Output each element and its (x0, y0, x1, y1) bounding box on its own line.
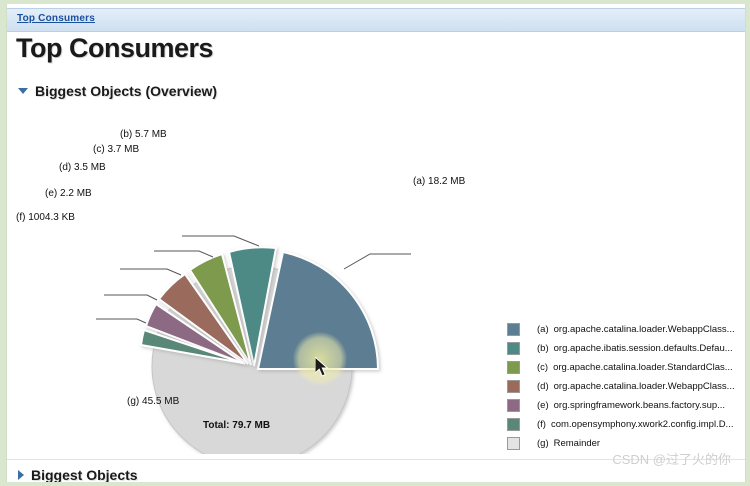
section-header-biggest-objects-overview[interactable]: Biggest Objects (Overview) (18, 83, 217, 99)
pie-label-c-key: (c) (93, 144, 105, 155)
legend-label-g: Remainder (554, 438, 600, 449)
legend-key-e: (e) (537, 400, 549, 411)
pie-label-b-value: 5.7 MB (135, 129, 167, 140)
legend-label-b: org.apache.ibatis.session.defaults.Defau… (554, 343, 733, 354)
pie-label-a-value: 18.2 MB (428, 176, 465, 187)
legend-item-f[interactable]: (f) com.opensymphony.xwork2.config.impl.… (507, 415, 745, 433)
pie-label-g-value: 45.5 MB (142, 396, 179, 407)
legend-swatch-b (507, 342, 520, 355)
legend-item-c[interactable]: (c) org.apache.catalina.loader.StandardC… (507, 358, 745, 376)
pie-label-e-value: 2.2 MB (60, 188, 92, 199)
legend-swatch-e (507, 399, 520, 412)
leader-line-d (120, 269, 181, 275)
legend-key-d: (d) (537, 381, 549, 392)
triangle-down-icon[interactable] (18, 88, 28, 94)
pie-label-e-key: (e) (45, 188, 57, 199)
legend-swatch-a (507, 323, 520, 336)
breadcrumb-link-top-consumers[interactable]: Top Consumers (17, 13, 95, 24)
legend-swatch-d (507, 380, 520, 393)
pie-label-g-key: (g) (127, 396, 139, 407)
leader-line-c (154, 251, 213, 257)
legend-label-d: org.apache.catalina.loader.WebappClass..… (554, 381, 735, 392)
page-title: Top Consumers (16, 33, 213, 64)
pie-label-d-value: 3.5 MB (74, 162, 106, 173)
legend-item-b[interactable]: (b) org.apache.ibatis.session.defaults.D… (507, 339, 745, 357)
legend-key-f: (f) (537, 419, 546, 430)
legend-swatch-c (507, 361, 520, 374)
pie-legend: (a) org.apache.catalina.loader.WebappCla… (507, 320, 745, 453)
pie-label-f-value: 1004.3 KB (28, 212, 75, 223)
pie-total-label: Total: 79.7 MB (203, 420, 270, 431)
pie-label-a: (a) 18.2 MB (413, 176, 465, 187)
breadcrumb-bar: Top Consumers (7, 8, 745, 32)
pie-label-c: (c) 3.7 MB (93, 144, 139, 155)
pie-label-b: (b) 5.7 MB (120, 129, 167, 140)
watermark-text: CSDN @过了火的你 (612, 449, 731, 468)
legend-item-a[interactable]: (a) org.apache.catalina.loader.WebappCla… (507, 320, 745, 338)
legend-label-a: org.apache.catalina.loader.WebappClass..… (554, 324, 735, 335)
legend-label-f: com.opensymphony.xwork2.config.impl.D... (551, 419, 734, 430)
legend-key-c: (c) (537, 362, 548, 373)
legend-item-e[interactable]: (e) org.springframework.beans.factory.su… (507, 396, 745, 414)
pie-label-d-key: (d) (59, 162, 71, 173)
triangle-right-icon[interactable] (18, 470, 24, 480)
leader-line-e (104, 295, 157, 300)
leader-line-a (344, 254, 411, 269)
legend-item-d[interactable]: (d) org.apache.catalina.loader.WebappCla… (507, 377, 745, 395)
page-container: Top Consumers Top Consumers Biggest Obje… (6, 4, 746, 482)
pie-label-e: (e) 2.2 MB (45, 188, 92, 199)
pie-label-g: (g) 45.5 MB (127, 396, 179, 407)
pie-label-f-key: (f) (16, 212, 25, 223)
pie-label-d: (d) 3.5 MB (59, 162, 106, 173)
pie-chart: (a) 18.2 MB (b) 5.7 MB (c) 3.7 MB (d) 3.… (7, 104, 745, 454)
legend-label-c: org.apache.catalina.loader.StandardClas.… (553, 362, 733, 373)
leader-line-f (96, 319, 146, 323)
pie-label-a-key: (a) (413, 176, 425, 187)
pie-label-f: (f) 1004.3 KB (16, 212, 75, 223)
legend-key-b: (b) (537, 343, 549, 354)
legend-swatch-f (507, 418, 520, 431)
legend-key-a: (a) (537, 324, 549, 335)
pie-label-c-value: 3.7 MB (107, 144, 139, 155)
section-label-biggest: Biggest Objects (31, 467, 138, 482)
legend-label-e: org.springframework.beans.factory.sup... (554, 400, 725, 411)
section-header-biggest-objects[interactable]: Biggest Objects (18, 467, 138, 482)
leader-line-b (182, 236, 259, 246)
section-label-overview: Biggest Objects (Overview) (35, 83, 217, 99)
pie-label-b-key: (b) (120, 129, 132, 140)
legend-key-g: (g) (537, 438, 549, 449)
legend-swatch-g (507, 437, 520, 450)
app-screenshot: Top Consumers Top Consumers Biggest Obje… (0, 0, 750, 486)
